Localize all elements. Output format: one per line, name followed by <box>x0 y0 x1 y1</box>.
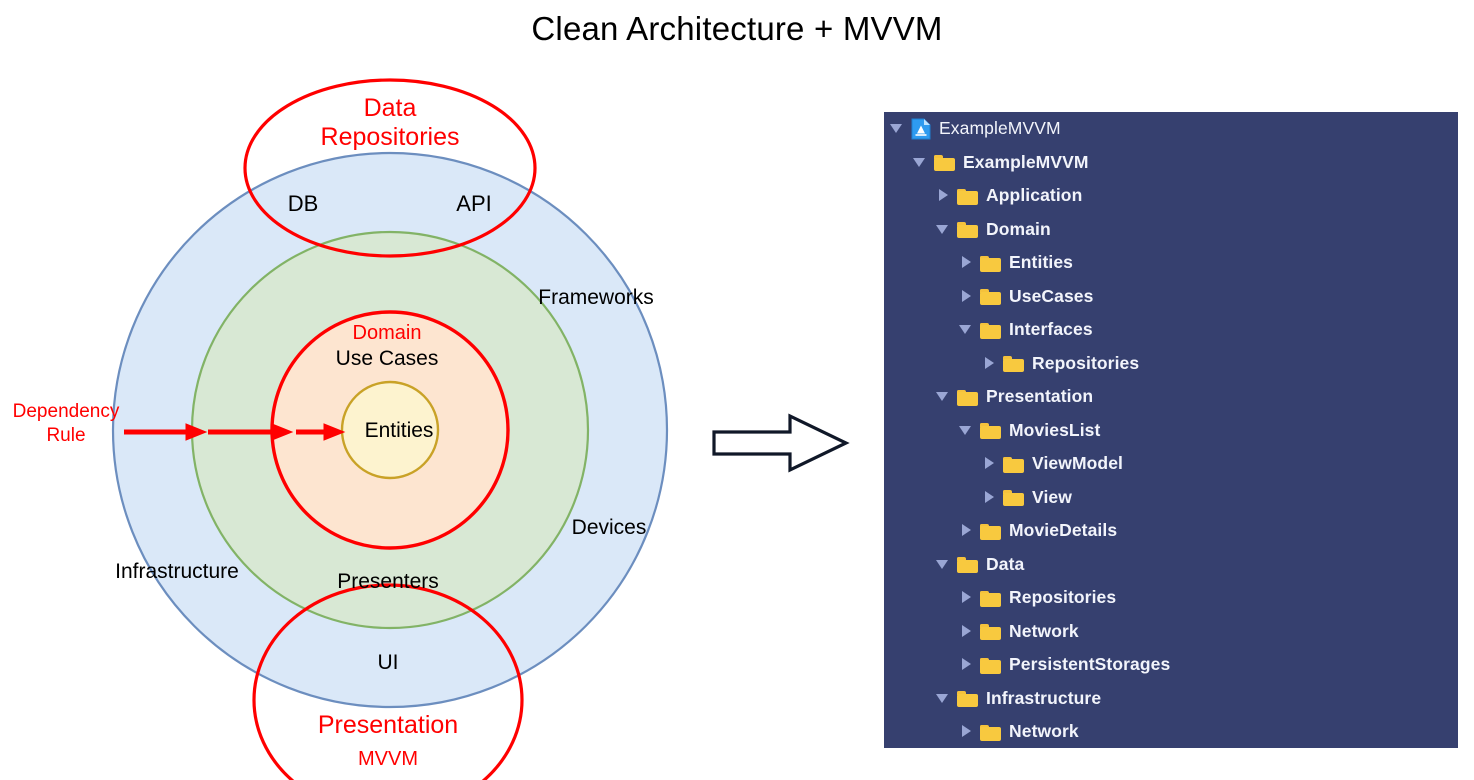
page-title: Clean Architecture + MVVM <box>0 10 1474 48</box>
tree-row-label: Data <box>986 554 1024 575</box>
tree-row-label: Interfaces <box>1009 319 1093 340</box>
tree-row[interactable]: ViewModel <box>884 447 1458 481</box>
tree-row-label: Domain <box>986 219 1051 240</box>
tree-row[interactable]: Presentation <box>884 380 1458 414</box>
label-domain: Domain <box>353 322 422 345</box>
chevron-down-icon[interactable] <box>936 557 951 572</box>
label-infrastructure: Infrastructure <box>115 560 239 584</box>
tree-row-label: Application <box>986 185 1082 206</box>
tree-row-label: View <box>1032 487 1072 508</box>
chevron-right-icon[interactable] <box>959 724 974 739</box>
tree-row[interactable]: Repositories <box>884 581 1458 615</box>
tree-row-label: Entities <box>1009 252 1073 273</box>
tree-row-label: Network <box>1009 721 1079 742</box>
tree-row[interactable]: Network <box>884 615 1458 649</box>
chevron-right-icon[interactable] <box>959 657 974 672</box>
tree-row-label: Presentation <box>986 386 1093 407</box>
tree-row[interactable]: UseCases <box>884 280 1458 314</box>
label-api: API <box>456 191 491 217</box>
tree-row[interactable]: Network <box>884 715 1458 748</box>
chevron-right-icon[interactable] <box>959 590 974 605</box>
tree-row[interactable]: View <box>884 481 1458 515</box>
tree-row-label: ExampleMVVM <box>939 118 1061 139</box>
tree-row-label: Repositories <box>1032 353 1139 374</box>
chevron-right-icon[interactable] <box>982 456 997 471</box>
tree-row[interactable]: Entities <box>884 246 1458 280</box>
chevron-right-icon[interactable] <box>959 523 974 538</box>
folder-icon <box>957 220 979 238</box>
chevron-down-icon[interactable] <box>913 155 928 170</box>
project-navigator-panel[interactable]: ExampleMVVMExampleMVVMApplicationDomainE… <box>884 112 1458 748</box>
tree-row[interactable]: PersistentStorages <box>884 648 1458 682</box>
folder-icon <box>980 321 1002 339</box>
label-mvvm: MVVM <box>358 748 418 771</box>
folder-icon <box>1003 455 1025 473</box>
tree-row[interactable]: Infrastructure <box>884 682 1458 716</box>
chevron-right-icon[interactable] <box>982 356 997 371</box>
folder-icon <box>957 388 979 406</box>
tree-row-label: PersistentStorages <box>1009 654 1170 675</box>
tree-row-label: Repositories <box>1009 587 1116 608</box>
folder-icon <box>957 187 979 205</box>
tree-row[interactable]: Application <box>884 179 1458 213</box>
tree-row-label: MovieDetails <box>1009 520 1117 541</box>
folder-icon <box>1003 354 1025 372</box>
chevron-right-icon[interactable] <box>936 188 951 203</box>
tree-row-label: Network <box>1009 621 1079 642</box>
chevron-down-icon[interactable] <box>936 389 951 404</box>
folder-icon <box>980 622 1002 640</box>
tree-row-label: Infrastructure <box>986 688 1101 709</box>
folder-icon <box>980 421 1002 439</box>
xcode-project-icon <box>911 118 931 140</box>
label-frameworks: Frameworks <box>538 286 654 310</box>
tree-row[interactable]: Repositories <box>884 347 1458 381</box>
label-dependency-rule: Dependency Rule <box>13 400 120 448</box>
label-presentation: Presentation <box>318 711 458 740</box>
label-db: DB <box>288 191 319 217</box>
chevron-down-icon[interactable] <box>890 121 905 136</box>
tree-row[interactable]: ExampleMVVM <box>884 112 1458 146</box>
folder-icon <box>1003 488 1025 506</box>
label-use-cases: Use Cases <box>336 347 439 371</box>
chevron-down-icon[interactable] <box>936 691 951 706</box>
chevron-down-icon[interactable] <box>936 222 951 237</box>
folder-icon <box>980 723 1002 741</box>
label-data-repositories: Data Repositories <box>321 94 460 152</box>
folder-icon <box>934 153 956 171</box>
label-presenters: Presenters <box>337 570 439 594</box>
folder-icon <box>980 589 1002 607</box>
tree-row[interactable]: ExampleMVVM <box>884 146 1458 180</box>
label-ui: UI <box>378 651 399 675</box>
tree-row[interactable]: MovieDetails <box>884 514 1458 548</box>
folder-icon <box>980 522 1002 540</box>
chevron-right-icon[interactable] <box>982 490 997 505</box>
chevron-down-icon[interactable] <box>959 423 974 438</box>
chevron-right-icon[interactable] <box>959 255 974 270</box>
label-entities: Entities <box>365 419 434 443</box>
tree-row-label: ViewModel <box>1032 453 1123 474</box>
folder-icon <box>980 656 1002 674</box>
tree-row-label: UseCases <box>1009 286 1093 307</box>
chevron-right-icon[interactable] <box>959 289 974 304</box>
tree-row[interactable]: Domain <box>884 213 1458 247</box>
folder-icon <box>980 287 1002 305</box>
folder-icon <box>980 254 1002 272</box>
block-arrow-icon <box>712 412 850 474</box>
chevron-down-icon[interactable] <box>959 322 974 337</box>
chevron-right-icon[interactable] <box>959 624 974 639</box>
tree-row[interactable]: MoviesList <box>884 414 1458 448</box>
tree-row-label: MoviesList <box>1009 420 1100 441</box>
tree-row[interactable]: Data <box>884 548 1458 582</box>
folder-icon <box>957 689 979 707</box>
label-devices: Devices <box>572 516 647 540</box>
tree-row[interactable]: Interfaces <box>884 313 1458 347</box>
folder-icon <box>957 555 979 573</box>
tree-row-label: ExampleMVVM <box>963 152 1089 173</box>
